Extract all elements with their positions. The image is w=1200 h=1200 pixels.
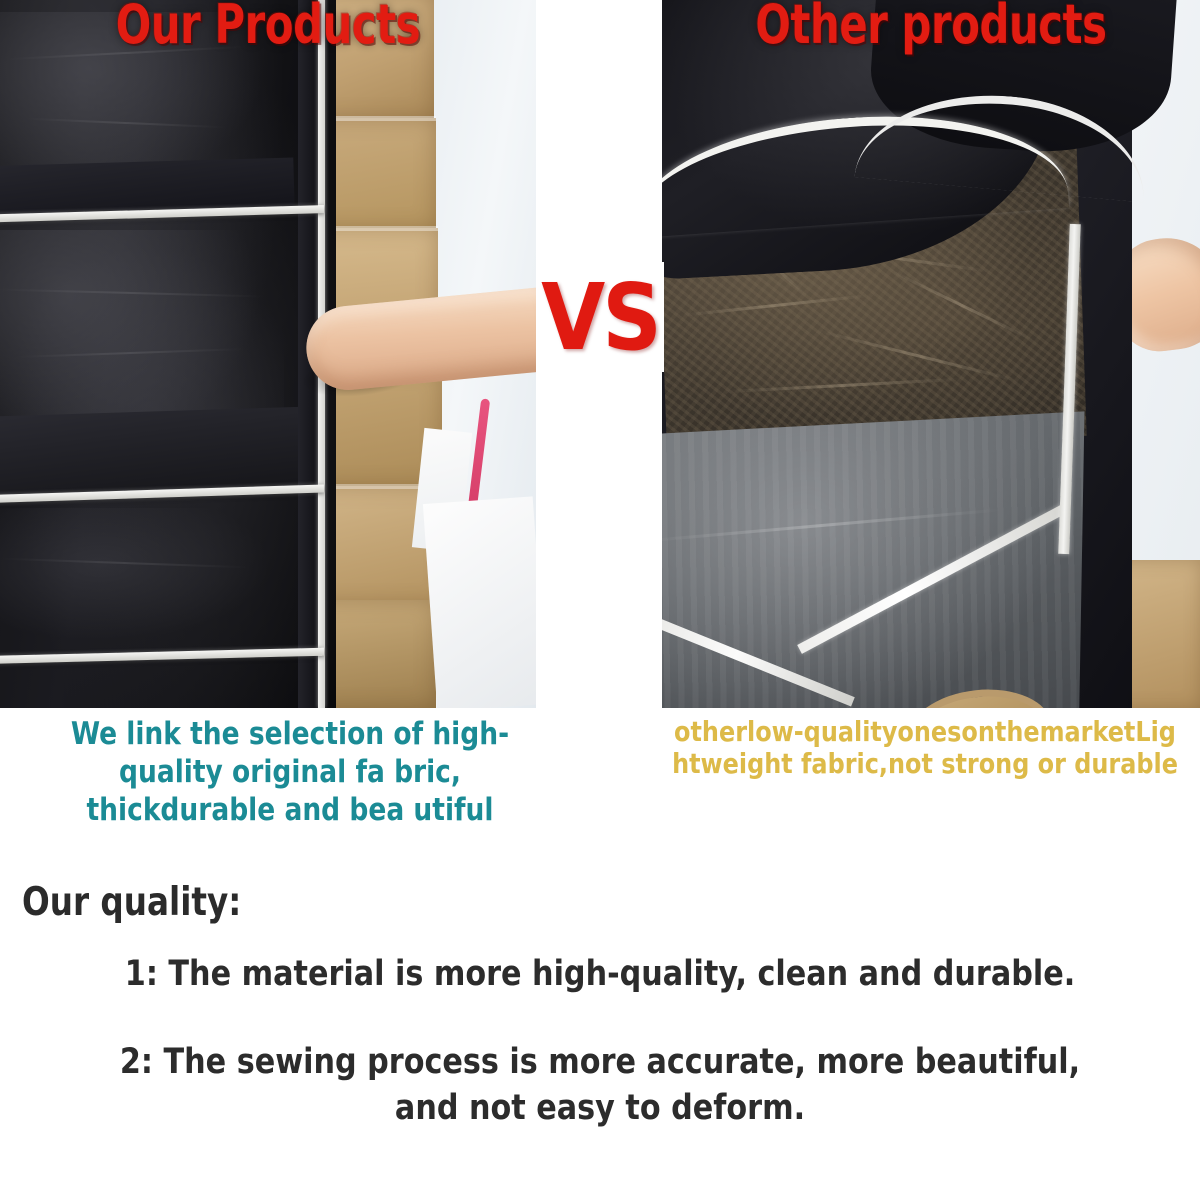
our-quality-heading: Our quality: bbox=[22, 880, 241, 925]
our-products-caption: We link the selection of high-quality or… bbox=[24, 716, 556, 829]
other-products-caption: otherlow-qualityonesonthemarketLightweig… bbox=[669, 716, 1182, 781]
white-piping-shelf-edge bbox=[0, 648, 324, 665]
other-products-photo-panel: Other products bbox=[662, 0, 1200, 708]
caption-row: We link the selection of high-quality or… bbox=[0, 708, 1200, 876]
black-fabric-organizer bbox=[0, 0, 336, 708]
our-quality-section: Our quality: 1: The material is more hig… bbox=[0, 880, 1200, 1200]
white-sheet bbox=[423, 496, 536, 708]
versus-label: VS bbox=[536, 262, 664, 372]
product-comparison-strip: Our Products bbox=[0, 0, 1200, 708]
our-products-scene bbox=[0, 0, 536, 708]
bag-bottom-panel bbox=[662, 411, 1084, 708]
other-products-scene bbox=[662, 0, 1200, 708]
our-products-photo-panel: Our Products bbox=[0, 0, 536, 708]
quality-list-item: 1: The material is more high-quality, cl… bbox=[24, 952, 1176, 998]
organizer-compartment bbox=[0, 508, 286, 648]
organizer-shelf-panel bbox=[0, 407, 303, 495]
quality-list-item: 2: The sewing process is more accurate, … bbox=[24, 1040, 1176, 1131]
